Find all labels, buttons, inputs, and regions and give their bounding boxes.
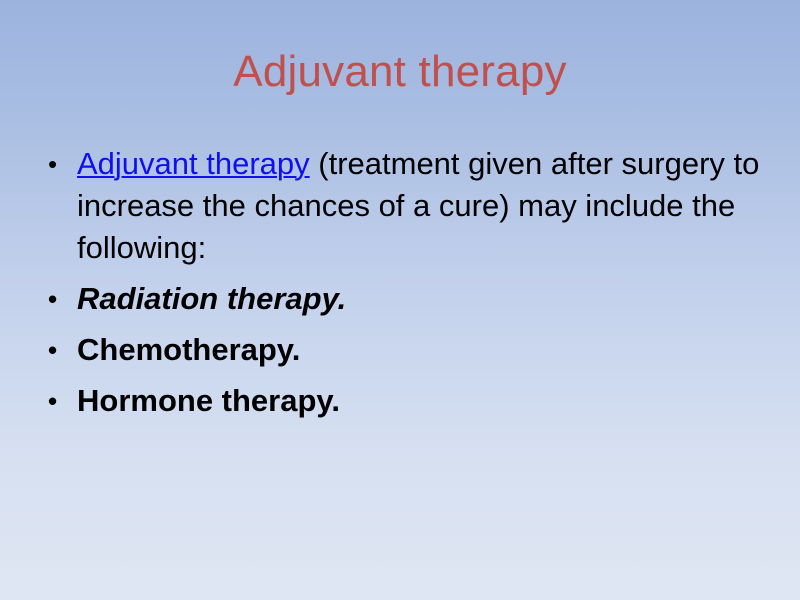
- slide-body-bullet-list: • Adjuvant therapy (treatment given afte…: [45, 143, 755, 422]
- bullet-point-icon: •: [48, 143, 66, 185]
- list-item: • Adjuvant therapy (treatment given afte…: [45, 143, 779, 269]
- list-item-text: Radiation therapy.: [77, 278, 755, 320]
- bullet-point-icon: •: [48, 329, 66, 371]
- list-item-text: Adjuvant therapy (treatment given after …: [77, 143, 779, 269]
- list-item-text: Chemotherapy.: [77, 329, 755, 371]
- bullet-point-icon: •: [48, 380, 66, 422]
- adjuvant-therapy-link[interactable]: Adjuvant therapy: [77, 146, 310, 181]
- list-item-radiation-therapy: • Radiation therapy.: [45, 278, 755, 320]
- list-item-text: Hormone therapy.: [77, 380, 755, 422]
- presentation-slide: Adjuvant therapy • Adjuvant therapy (tre…: [0, 0, 800, 600]
- bullet-point-icon: •: [48, 278, 66, 320]
- slide-title: Adjuvant therapy: [0, 44, 800, 100]
- list-item-chemotherapy: • Chemotherapy.: [45, 329, 755, 371]
- list-item-hormone-therapy: • Hormone therapy.: [45, 380, 755, 422]
